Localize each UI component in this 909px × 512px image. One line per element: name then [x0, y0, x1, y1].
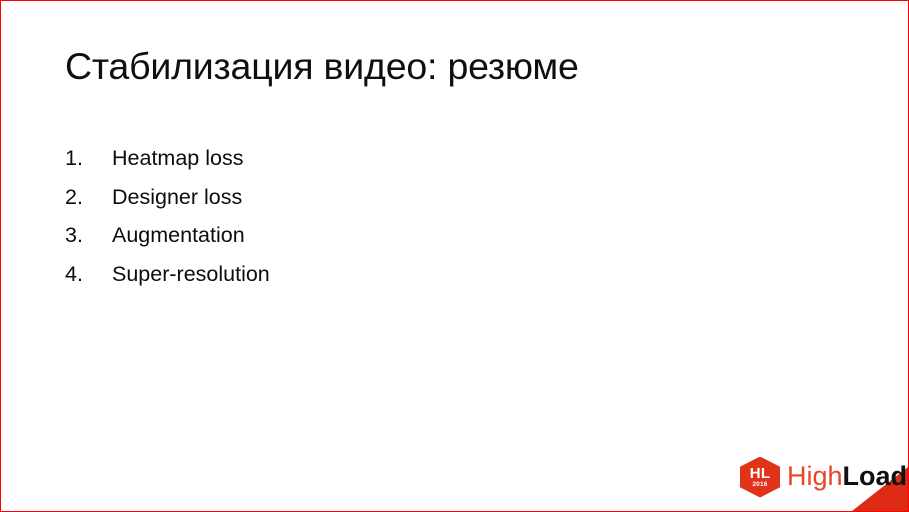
page-title: Стабилизация видео: резюме [65, 43, 579, 90]
list-item: 3. Augmentation [65, 216, 270, 255]
list-item: 2. Designer loss [65, 178, 270, 217]
list-item-label: Augmentation [112, 216, 245, 255]
list-item-label: Heatmap loss [112, 139, 243, 178]
highload-logo: HL 2016 HighLoad++ [740, 456, 909, 498]
list-item: 4. Super-resolution [65, 255, 270, 294]
logo-word-load: Load [843, 461, 908, 491]
badge-initials: HL [740, 466, 780, 481]
list-item-label: Designer loss [112, 178, 242, 217]
list-item: 1. Heatmap loss [65, 139, 270, 178]
list-item-marker: 1. [65, 139, 112, 178]
badge-year: 2016 [740, 482, 780, 489]
list-item-marker: 3. [65, 216, 112, 255]
hexagon-badge-icon: HL 2016 [740, 457, 780, 498]
list-item-marker: 2. [65, 178, 112, 217]
numbered-list: 1. Heatmap loss 2. Designer loss 3. Augm… [65, 139, 270, 293]
logo-word-high: High [787, 461, 843, 491]
presentation-slide: Стабилизация видео: резюме 1. Heatmap lo… [0, 0, 909, 512]
list-item-marker: 4. [65, 255, 112, 294]
list-item-label: Super-resolution [112, 255, 270, 294]
logo-wordmark: HighLoad++ [787, 463, 909, 490]
